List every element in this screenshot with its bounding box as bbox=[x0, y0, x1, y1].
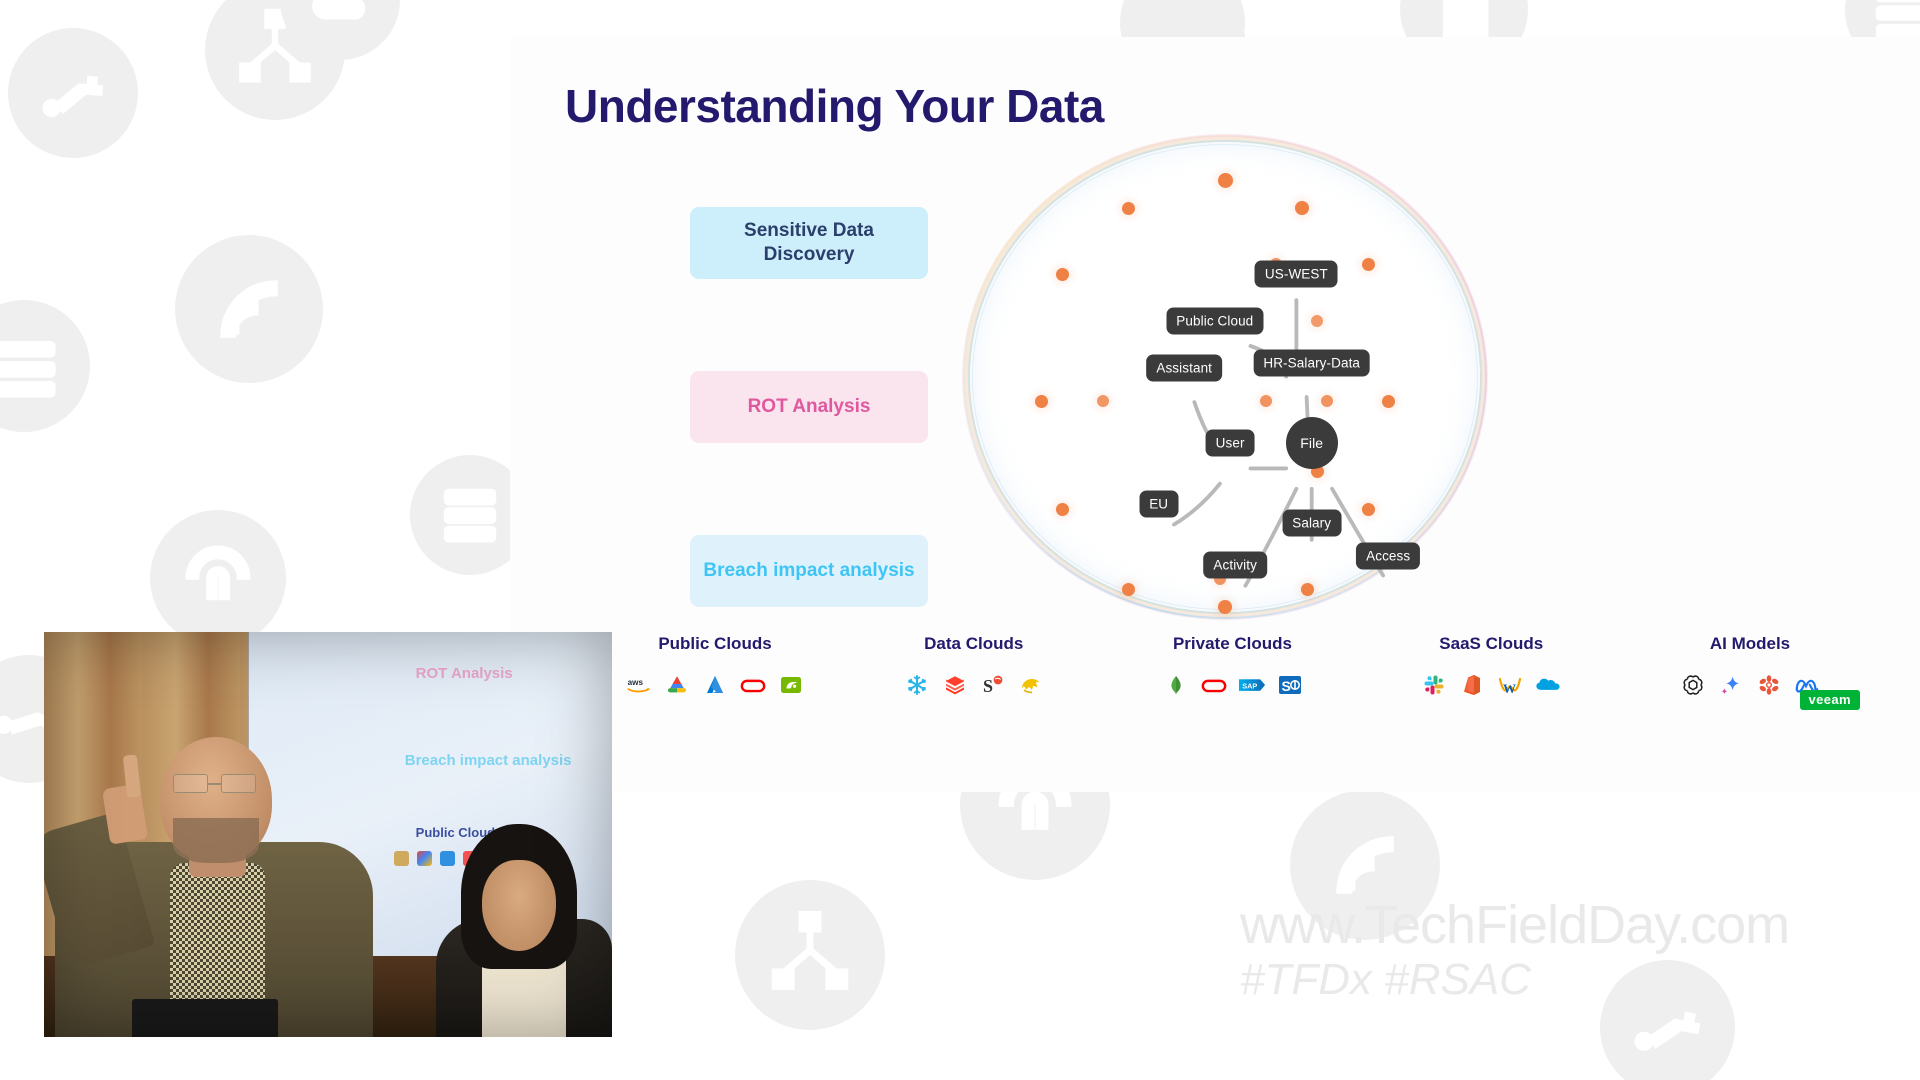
category-title: Public Clouds bbox=[658, 634, 771, 654]
graph-node-label: EU bbox=[1149, 496, 1168, 511]
category-ai-models: AI Models bbox=[1645, 634, 1855, 698]
speaker-glasses-bridge bbox=[208, 783, 221, 785]
graph-node-salary[interactable]: Salary bbox=[1282, 509, 1341, 536]
svg-text:S: S bbox=[1281, 678, 1290, 694]
graph-node-access[interactable]: Access bbox=[1356, 542, 1420, 569]
fingerprint-icon bbox=[150, 510, 286, 646]
google-cloud-logo bbox=[664, 672, 690, 698]
graph-node-label: US-WEST bbox=[1265, 266, 1328, 281]
wifi-icon bbox=[1290, 790, 1440, 940]
oracle-logo bbox=[740, 672, 766, 698]
aws-logo: aws bbox=[626, 672, 652, 698]
category-logo-row: S bbox=[904, 672, 1044, 698]
graph-node-label: User bbox=[1216, 435, 1245, 450]
svg-text:SAP: SAP bbox=[1242, 681, 1257, 690]
projected-rot-analysis-label: ROT Analysis bbox=[416, 665, 513, 682]
databricks-logo bbox=[942, 672, 968, 698]
graph-node-hr-salary-data[interactable]: HR-Salary-Data bbox=[1253, 349, 1370, 376]
snowflake-logo bbox=[904, 672, 930, 698]
seated-person-face bbox=[482, 860, 556, 951]
cloud-category-row: Public Clouds aws bbox=[610, 634, 1855, 698]
category-public-clouds: Public Clouds aws bbox=[610, 634, 820, 698]
capability-card-list: Sensitive Data Discovery ROT Analysis Br… bbox=[690, 207, 928, 607]
graph-dot bbox=[1097, 395, 1109, 407]
presenter-video-inset[interactable]: ROT Analysis Breach impact analysis Publ… bbox=[44, 632, 612, 1037]
category-title: Private Clouds bbox=[1173, 634, 1292, 654]
slack-logo bbox=[1421, 672, 1447, 698]
graph-node-label: Public Cloud bbox=[1176, 313, 1253, 328]
anthropic-logo bbox=[1756, 672, 1782, 698]
salesforce-logo bbox=[1535, 672, 1561, 698]
category-data-clouds: Data Clouds S bbox=[869, 634, 1079, 698]
sap-logo: SAP bbox=[1239, 672, 1265, 698]
graph-node-assistant[interactable]: Assistant bbox=[1146, 354, 1222, 381]
key-icon bbox=[1600, 960, 1735, 1080]
google-cloud-logo bbox=[417, 851, 432, 866]
graph-dot bbox=[1260, 395, 1272, 407]
laptop bbox=[132, 999, 278, 1037]
graph-dot bbox=[1311, 315, 1323, 327]
gemini-logo bbox=[1718, 672, 1744, 698]
graph-node-eu[interactable]: EU bbox=[1139, 490, 1178, 517]
graph-dot bbox=[1035, 395, 1048, 408]
wifi-icon bbox=[175, 235, 323, 383]
workday-logo: W bbox=[1497, 672, 1523, 698]
category-title: AI Models bbox=[1710, 634, 1790, 654]
hadoop-logo bbox=[1018, 672, 1044, 698]
graph-dot bbox=[1056, 503, 1069, 516]
speaker-person bbox=[55, 689, 373, 1037]
graph-node-label: Activity bbox=[1213, 558, 1257, 573]
page-title: Understanding Your Data bbox=[565, 79, 1104, 133]
network-nodes-icon bbox=[735, 880, 885, 1030]
openai-logo bbox=[1680, 672, 1706, 698]
office365-logo bbox=[1459, 672, 1485, 698]
capability-card-breach-impact-analysis[interactable]: Breach impact analysis bbox=[690, 535, 928, 607]
capability-card-label: Sensitive Data Discovery bbox=[702, 219, 916, 267]
graph-dot bbox=[1122, 583, 1135, 596]
capability-card-sensitive-data-discovery[interactable]: Sensitive Data Discovery bbox=[690, 207, 928, 279]
graph-node-label: Salary bbox=[1292, 515, 1331, 530]
graph-node-public-cloud[interactable]: Public Cloud bbox=[1166, 307, 1263, 334]
graph-dot bbox=[1122, 202, 1135, 215]
graph-node-label: Assistant bbox=[1156, 360, 1212, 375]
mongodb-logo bbox=[1163, 672, 1189, 698]
capability-card-rot-analysis[interactable]: ROT Analysis bbox=[690, 371, 928, 443]
category-logo-row: aws bbox=[626, 672, 804, 698]
sharepoint-logo: S bbox=[1277, 672, 1303, 698]
oracle-logo bbox=[1201, 672, 1227, 698]
graph-dot bbox=[1056, 268, 1069, 281]
key-icon bbox=[8, 28, 138, 158]
graph-dot bbox=[1301, 583, 1314, 596]
graph-dot bbox=[1362, 258, 1375, 271]
azure-logo bbox=[702, 672, 728, 698]
svg-text:W: W bbox=[1503, 681, 1516, 696]
capability-card-label: Breach impact analysis bbox=[703, 559, 914, 583]
graph-node-us-west[interactable]: US-WEST bbox=[1255, 260, 1338, 287]
category-private-clouds: Private Clouds SAP S bbox=[1128, 634, 1338, 698]
graph-dot bbox=[1295, 201, 1309, 215]
speaker-hand bbox=[102, 784, 148, 845]
graph-dot bbox=[1321, 395, 1333, 407]
graph-node-label: Access bbox=[1366, 548, 1410, 563]
graph-dot bbox=[1218, 173, 1233, 188]
speaker-pointing-finger bbox=[123, 754, 142, 797]
graph-dot bbox=[1362, 503, 1375, 516]
projected-breach-impact-label: Breach impact analysis bbox=[405, 752, 572, 769]
svg-text:S: S bbox=[983, 676, 993, 696]
category-title: SaaS Clouds bbox=[1439, 634, 1543, 654]
presentation-slide: Understanding Your Data Sensitive Data D… bbox=[510, 37, 1920, 792]
category-logo-row: W bbox=[1421, 672, 1561, 698]
speaker-beard bbox=[173, 818, 259, 863]
splunk-logo: S bbox=[980, 672, 1006, 698]
graph-node-label: HR-Salary-Data bbox=[1263, 355, 1360, 370]
veeam-logo: veeam bbox=[1800, 690, 1860, 710]
seated-person bbox=[436, 810, 612, 1037]
graph-node-user[interactable]: User bbox=[1206, 429, 1255, 456]
aws-logo bbox=[394, 851, 409, 866]
graph-node-activity[interactable]: Activity bbox=[1203, 552, 1267, 579]
svg-text:aws: aws bbox=[628, 678, 644, 687]
category-logo-row: SAP S bbox=[1163, 672, 1303, 698]
graph-node-file[interactable]: File bbox=[1286, 417, 1338, 469]
data-graph-visualization: Public Cloud US-WEST Assistant HR-Salary… bbox=[970, 142, 1480, 612]
capability-card-label: ROT Analysis bbox=[748, 395, 871, 419]
speaker-glasses-left bbox=[173, 774, 208, 793]
nvidia-logo bbox=[778, 672, 804, 698]
speaker-glasses-right bbox=[221, 774, 256, 793]
graph-node-label: File bbox=[1300, 435, 1323, 451]
screen-capture: Understanding Your Data Sensitive Data D… bbox=[0, 0, 1920, 1080]
graph-dot bbox=[1382, 395, 1395, 408]
database-icon bbox=[0, 300, 90, 432]
category-title: Data Clouds bbox=[924, 634, 1023, 654]
category-saas-clouds: SaaS Clouds W bbox=[1386, 634, 1596, 698]
